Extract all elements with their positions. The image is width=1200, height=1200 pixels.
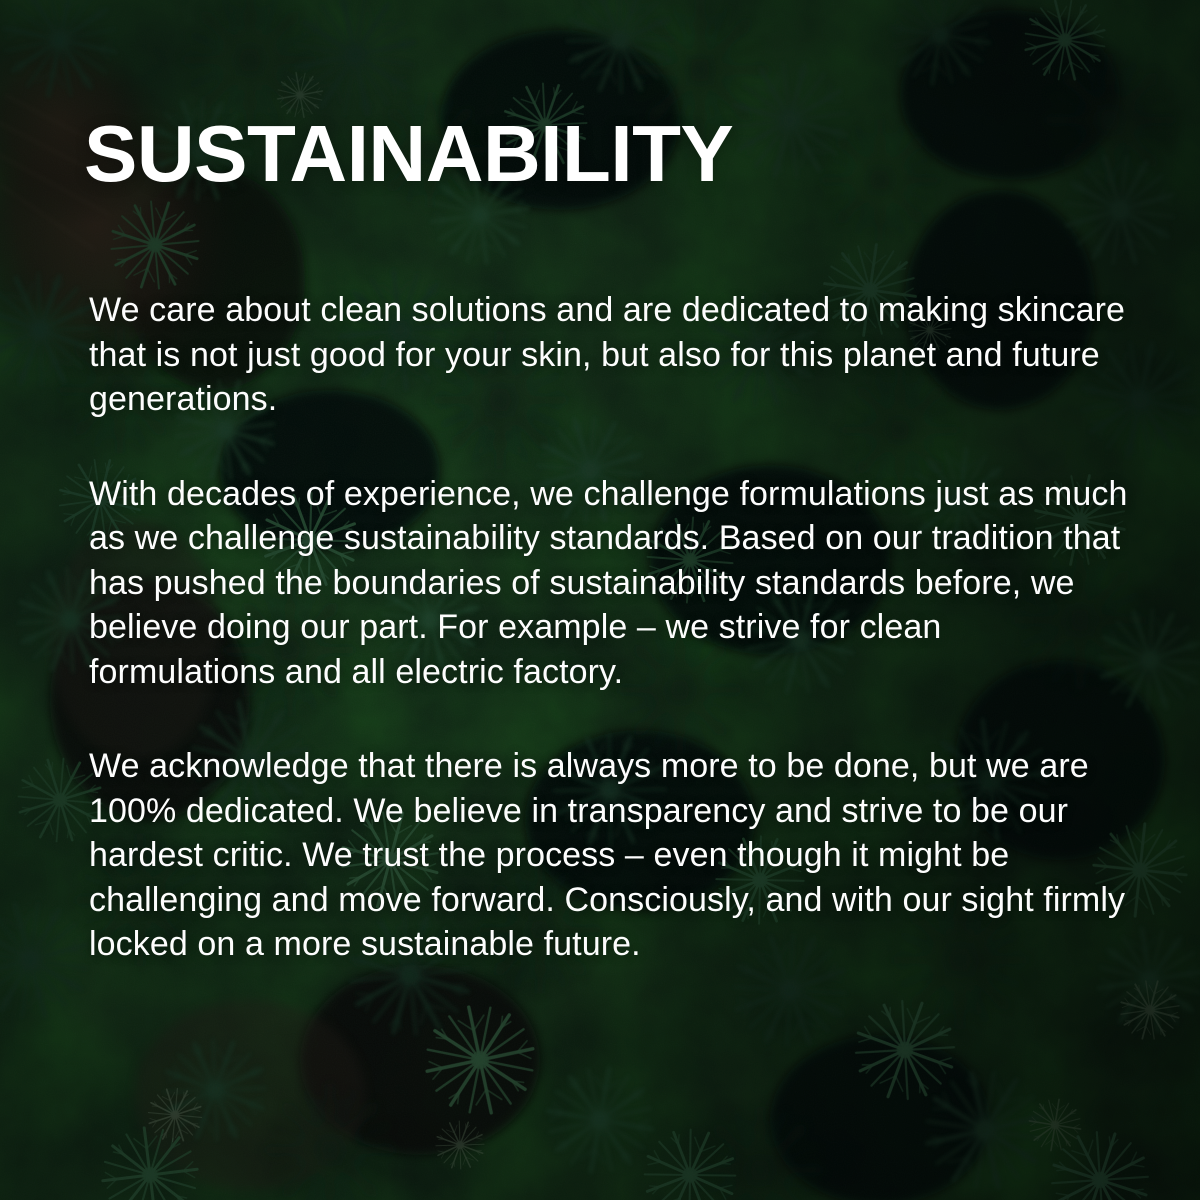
paragraph-experience: With decades of experience, we challenge…	[89, 472, 1131, 695]
content-column: SUSTAINABILITY We care about clean solut…	[89, 0, 1129, 1200]
paragraph-intro: We care about clean solutions and are de…	[89, 288, 1131, 422]
body-copy: We care about clean solutions and are de…	[89, 288, 1131, 967]
paragraph-commitment: We acknowledge that there is always more…	[89, 744, 1131, 967]
page-title: SUSTAINABILITY	[84, 112, 733, 196]
sustainability-page: SUSTAINABILITY We care about clean solut…	[0, 0, 1200, 1200]
